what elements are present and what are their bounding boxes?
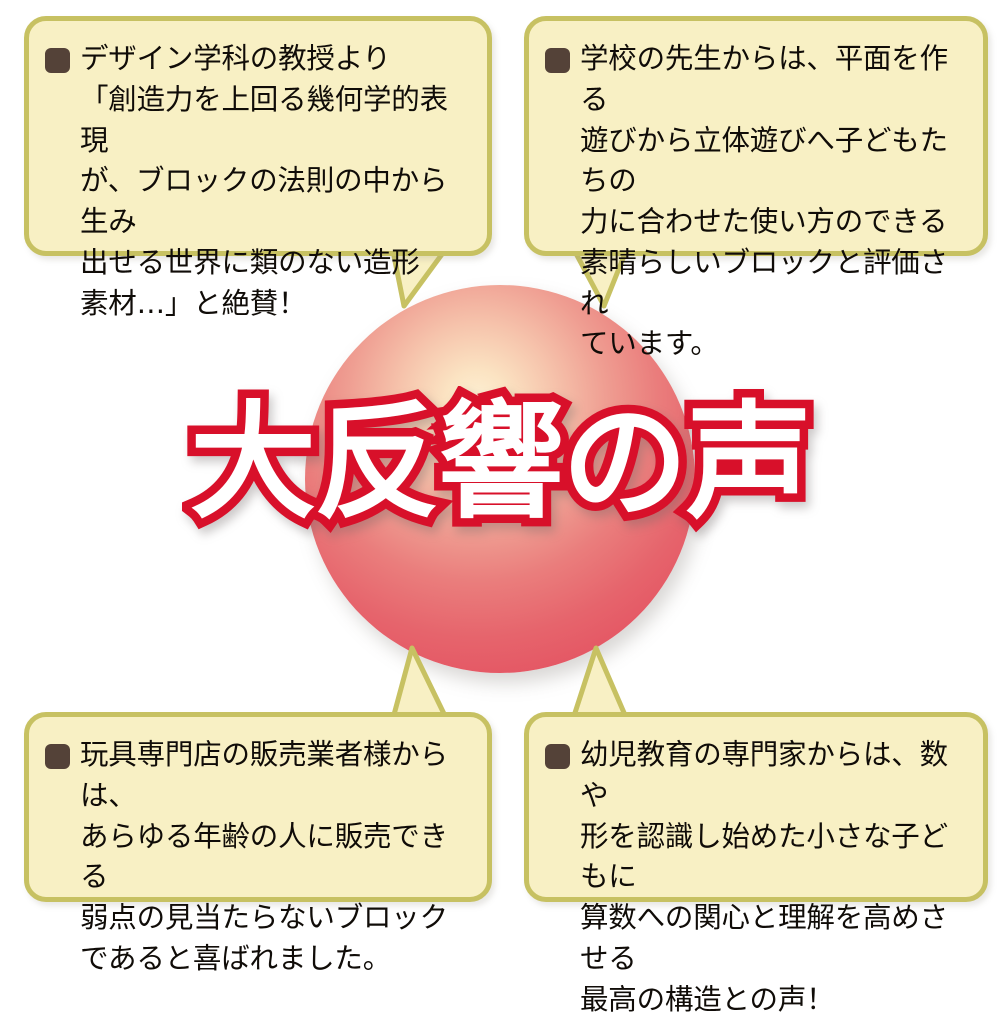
testimonial-text: 幼児教育の専門家からは、数や 形を認識し始めた小さな子どもに 算数への関心と理解… (580, 735, 967, 1020)
infographic-canvas: 大反響の声 デザイン学科の教授より 「創造力を上回る幾何学的表現 が、ブロックの… (0, 0, 1000, 929)
bubble-content: 学校の先生からは、平面を作る 遊びから立体遊びへ子どもたちの 力に合わせた使い方… (529, 21, 983, 379)
testimonial-text: 学校の先生からは、平面を作る 遊びから立体遊びへ子どもたちの 力に合わせた使い方… (580, 39, 967, 365)
testimonial-bubble-top-right: 学校の先生からは、平面を作る 遊びから立体遊びへ子どもたちの 力に合わせた使い方… (524, 16, 988, 256)
bubble-content: デザイン学科の教授より 「創造力を上回る幾何学的表現 が、ブロックの法則の中から… (29, 21, 487, 338)
square-bullet-icon (45, 744, 70, 769)
bubble-content: 玩具専門店の販売業者様からは、 あらゆる年齢の人に販売できる 弱点の見当たらない… (29, 717, 487, 994)
square-bullet-icon (45, 48, 70, 73)
testimonial-text: デザイン学科の教授より 「創造力を上回る幾何学的表現 が、ブロックの法則の中から… (80, 39, 471, 324)
square-bullet-icon (545, 48, 570, 73)
testimonial-bubble-bottom-left: 玩具専門店の販売業者様からは、 あらゆる年齢の人に販売できる 弱点の見当たらない… (24, 712, 492, 902)
testimonial-bubble-bottom-right: 幼児教育の専門家からは、数や 形を認識し始めた小さな子どもに 算数への関心と理解… (524, 712, 988, 902)
testimonial-text: 玩具専門店の販売業者様からは、 あらゆる年齢の人に販売できる 弱点の見当たらない… (80, 735, 471, 980)
square-bullet-icon (545, 744, 570, 769)
testimonial-bubble-top-left: デザイン学科の教授より 「創造力を上回る幾何学的表現 が、ブロックの法則の中から… (24, 16, 492, 256)
bubble-content: 幼児教育の専門家からは、数や 形を認識し始めた小さな子どもに 算数への関心と理解… (529, 717, 983, 1034)
